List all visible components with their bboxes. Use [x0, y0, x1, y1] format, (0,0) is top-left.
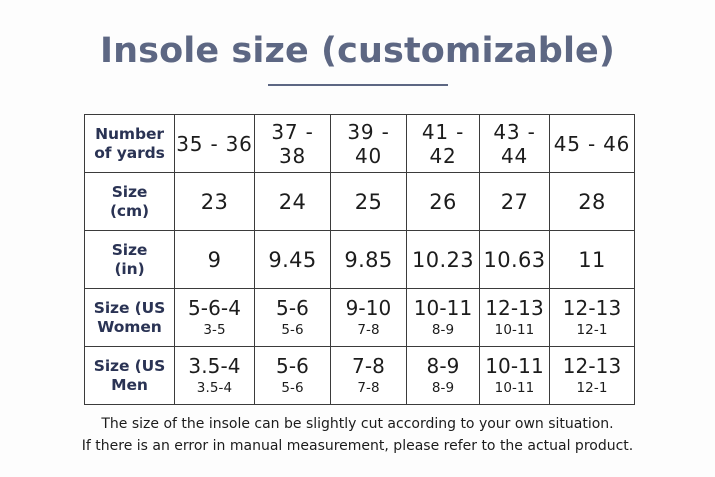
- table-row-size-cm: Size (cm) 23 24 25 26 27 28: [85, 173, 635, 231]
- cell-size-in-2: 9.45: [255, 231, 331, 289]
- cell-size-us-women-3: 9-10 7-8: [331, 289, 407, 347]
- cell-primary-value: 3.5-4: [188, 356, 240, 377]
- row-label-line-2: Men: [85, 376, 174, 394]
- table-header-row: Number of yards 35 - 36 37 - 38 39 - 40 …: [85, 115, 635, 173]
- cell-primary-value: 9-10: [346, 298, 392, 319]
- cell-primary-value: 5-6: [276, 356, 309, 377]
- cell-size-us-women-6: 12-13 12-1: [550, 289, 635, 347]
- cell-primary-value: 5-6: [276, 298, 309, 319]
- cell-secondary-value: 12-1: [576, 381, 607, 395]
- row-header-line-1: Number: [85, 125, 174, 143]
- cell-primary-value: 8-9: [427, 356, 460, 377]
- row-label-size-cm: Size (cm): [85, 173, 175, 231]
- footnote-line-2: If there is an error in manual measureme…: [0, 436, 715, 458]
- cell-secondary-value: 7-8: [357, 381, 379, 395]
- cell-size-in-1: 9: [175, 231, 255, 289]
- header-cell-size-range-5: 43 - 44: [480, 115, 550, 173]
- size-chart-table-wrapper: Number of yards 35 - 36 37 - 38 39 - 40 …: [84, 114, 634, 405]
- cell-size-in-3: 9.85: [331, 231, 407, 289]
- cell-size-in-6: 11: [550, 231, 635, 289]
- cell-secondary-value: 3-5: [203, 323, 225, 337]
- cell-primary-value: 12-13: [563, 356, 622, 377]
- title-block: Insole size (customizable): [0, 33, 715, 86]
- row-label-size-us-men: Size (US Men: [85, 347, 175, 405]
- cell-primary-value: 12-13: [563, 298, 622, 319]
- header-cell-size-range-1: 35 - 36: [175, 115, 255, 173]
- cell-size-in-5: 10.63: [480, 231, 550, 289]
- cell-secondary-value: 10-11: [495, 381, 535, 395]
- table-row-size-us-women: Size (US Women 5-6-4 3-5 5-6 5-6 9-10 7-…: [85, 289, 635, 347]
- header-cell-size-range-6: 45 - 46: [550, 115, 635, 173]
- cell-secondary-value: 8-9: [432, 323, 454, 337]
- row-label-line-2: (cm): [85, 202, 174, 220]
- header-cell-size-range-4: 41 - 42: [407, 115, 480, 173]
- cell-secondary-value: 12-1: [576, 323, 607, 337]
- footnotes: The size of the insole can be slightly c…: [0, 414, 715, 457]
- row-label-size-in: Size (in): [85, 231, 175, 289]
- cell-primary-value: 7-8: [352, 356, 385, 377]
- cell-size-cm-2: 24: [255, 173, 331, 231]
- cell-primary-value: 10-11: [414, 298, 473, 319]
- cell-size-cm-5: 27: [480, 173, 550, 231]
- cell-size-us-women-1: 5-6-4 3-5: [175, 289, 255, 347]
- row-label-line-1: Size: [85, 241, 174, 259]
- cell-size-us-men-6: 12-13 12-1: [550, 347, 635, 405]
- row-label-line-2: (in): [85, 260, 174, 278]
- cell-secondary-value: 3.5-4: [197, 381, 232, 395]
- cell-size-us-women-2: 5-6 5-6: [255, 289, 331, 347]
- cell-size-cm-6: 28: [550, 173, 635, 231]
- cell-secondary-value: 5-6: [281, 323, 303, 337]
- cell-size-us-men-4: 8-9 8-9: [407, 347, 480, 405]
- cell-size-cm-4: 26: [407, 173, 480, 231]
- row-label-line-1: Size (US: [85, 299, 174, 317]
- title-divider: [268, 84, 448, 86]
- row-label-line-2: Women: [85, 318, 174, 336]
- row-header-line-2: of yards: [85, 144, 174, 162]
- cell-size-us-men-1: 3.5-4 3.5-4: [175, 347, 255, 405]
- cell-primary-value: 5-6-4: [188, 298, 241, 319]
- cell-secondary-value: 5-6: [281, 381, 303, 395]
- size-chart-table: Number of yards 35 - 36 37 - 38 39 - 40 …: [84, 114, 635, 405]
- cell-secondary-value: 10-11: [495, 323, 535, 337]
- cell-size-in-4: 10.23: [407, 231, 480, 289]
- cell-size-cm-3: 25: [331, 173, 407, 231]
- cell-size-us-men-3: 7-8 7-8: [331, 347, 407, 405]
- cell-secondary-value: 8-9: [432, 381, 454, 395]
- cell-primary-value: 10-11: [485, 356, 544, 377]
- page-title: Insole size (customizable): [0, 33, 715, 70]
- row-label-size-us-women: Size (US Women: [85, 289, 175, 347]
- cell-size-us-women-4: 10-11 8-9: [407, 289, 480, 347]
- cell-size-cm-1: 23: [175, 173, 255, 231]
- header-cell-size-range-3: 39 - 40: [331, 115, 407, 173]
- cell-secondary-value: 7-8: [357, 323, 379, 337]
- cell-size-us-men-5: 10-11 10-11: [480, 347, 550, 405]
- cell-primary-value: 12-13: [485, 298, 544, 319]
- row-label-line-1: Size (US: [85, 357, 174, 375]
- row-label-line-1: Size: [85, 183, 174, 201]
- header-cell-size-range-2: 37 - 38: [255, 115, 331, 173]
- table-row-size-us-men: Size (US Men 3.5-4 3.5-4 5-6 5-6 7-8 7-8…: [85, 347, 635, 405]
- table-row-size-in: Size (in) 9 9.45 9.85 10.23 10.63 11: [85, 231, 635, 289]
- cell-size-us-men-2: 5-6 5-6: [255, 347, 331, 405]
- footnote-line-1: The size of the insole can be slightly c…: [0, 414, 715, 436]
- cell-size-us-women-5: 12-13 10-11: [480, 289, 550, 347]
- row-header-number-of-yards: Number of yards: [85, 115, 175, 173]
